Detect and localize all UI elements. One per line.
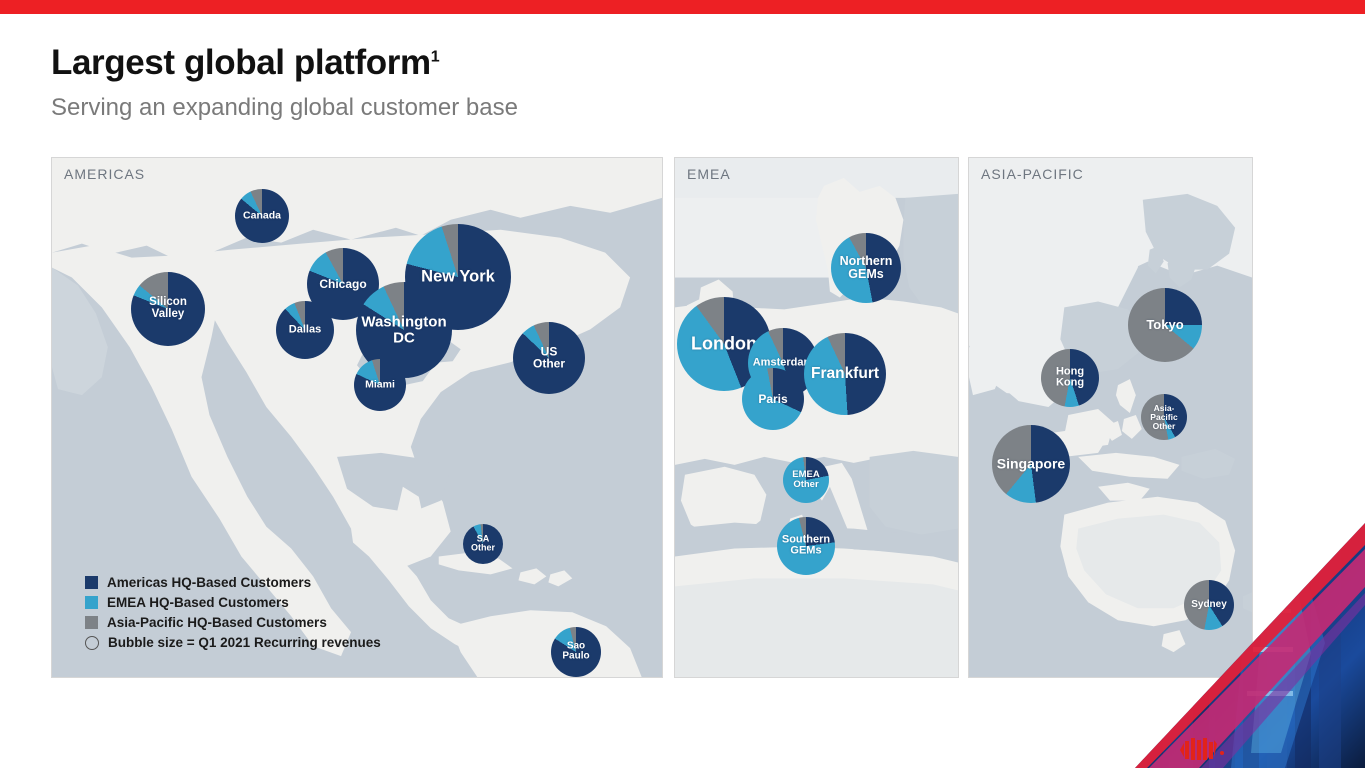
bubble-label: London bbox=[691, 335, 757, 354]
bubble-label: Tokyo bbox=[1146, 318, 1183, 332]
bubble-southern-gems[interactable]: SouthernGEMs bbox=[777, 517, 835, 575]
legend-label: Asia-Pacific HQ-Based Customers bbox=[107, 615, 327, 630]
legend-swatch-emea bbox=[85, 596, 98, 609]
bubble-hong-kong[interactable]: HongKong bbox=[1041, 349, 1099, 407]
bubble-label: EMEAOther bbox=[792, 470, 819, 490]
page-subtitle: Serving an expanding global customer bas… bbox=[51, 94, 518, 122]
bubble-frankfurt[interactable]: Frankfurt bbox=[804, 333, 886, 415]
bubble-label: SouthernGEMs bbox=[782, 535, 830, 558]
map-panel-emea: EMEA bbox=[674, 157, 959, 678]
bubble-label: Dallas bbox=[289, 324, 321, 335]
bubble-label: Canada bbox=[243, 211, 281, 222]
bubble-label: Chicago bbox=[319, 278, 366, 290]
page-title-text: Largest global platform bbox=[51, 43, 431, 82]
bubble-tokyo[interactable]: Tokyo bbox=[1128, 288, 1202, 362]
legend-swatch-apac bbox=[85, 616, 98, 629]
bubble-label: NorthernGEMs bbox=[840, 255, 893, 281]
bubble-label: Singapore bbox=[997, 457, 1065, 472]
top-accent-bar bbox=[0, 0, 1365, 14]
page-title: Largest global platform1 bbox=[51, 44, 439, 83]
bubble-miami[interactable]: Miami bbox=[354, 359, 406, 411]
legend-item: Americas HQ-Based Customers bbox=[85, 575, 381, 590]
bubble-label: Asia-PacificOther bbox=[1150, 404, 1177, 430]
bubble-label: Paris bbox=[758, 393, 787, 405]
legend-item: Bubble size = Q1 2021 Recurring revenues bbox=[85, 635, 381, 650]
bubble-label: USOther bbox=[533, 346, 565, 371]
emea-map-graphic bbox=[675, 158, 958, 677]
panel-label-apac: ASIA-PACIFIC bbox=[981, 166, 1084, 182]
bubble-label: Frankfurt bbox=[811, 366, 879, 382]
bubble-northern-gems[interactable]: NorthernGEMs bbox=[831, 233, 901, 303]
legend-label: EMEA HQ-Based Customers bbox=[107, 595, 289, 610]
legend-swatch-americas bbox=[85, 576, 98, 589]
bubble-singapore[interactable]: Singapore bbox=[992, 425, 1070, 503]
bubble-emea-other[interactable]: EMEAOther bbox=[783, 457, 829, 503]
panel-label-emea: EMEA bbox=[687, 166, 731, 182]
bubble-label: New York bbox=[421, 268, 495, 285]
bubble-label: SiliconValley bbox=[149, 297, 187, 321]
bubble-sao-paulo[interactable]: SaoPaulo bbox=[551, 627, 601, 677]
bubble-dallas[interactable]: Dallas bbox=[276, 301, 334, 359]
equinix-logo bbox=[1176, 738, 1228, 767]
legend-item: Asia-Pacific HQ-Based Customers bbox=[85, 615, 381, 630]
legend-swatch-bubble-size bbox=[85, 636, 99, 650]
slide-root: Largest global platform1 Serving an expa… bbox=[0, 0, 1365, 768]
bubble-label: SAOther bbox=[471, 535, 495, 554]
bubble-label: SaoPaulo bbox=[562, 642, 589, 663]
legend: Americas HQ-Based Customers EMEA HQ-Base… bbox=[85, 575, 381, 655]
bubble-asia-pacific-other[interactable]: Asia-PacificOther bbox=[1141, 394, 1187, 440]
bubble-label: Sydney bbox=[1191, 600, 1227, 610]
bubble-label: HongKong bbox=[1056, 367, 1084, 390]
legend-label: Bubble size = Q1 2021 Recurring revenues bbox=[108, 635, 381, 650]
bubble-label: Miami bbox=[365, 380, 395, 391]
panel-label-americas: AMERICAS bbox=[64, 166, 145, 182]
bubble-sa-other[interactable]: SAOther bbox=[463, 524, 503, 564]
map-panel-americas: Americas HQ-Based Customers EMEA HQ-Base… bbox=[51, 157, 663, 678]
bubble-paris[interactable]: Paris bbox=[742, 368, 804, 430]
page-title-superscript: 1 bbox=[431, 48, 440, 65]
bubble-silicon-valley[interactable]: SiliconValley bbox=[131, 272, 205, 346]
bubble-sydney[interactable]: Sydney bbox=[1184, 580, 1234, 630]
legend-item: EMEA HQ-Based Customers bbox=[85, 595, 381, 610]
legend-label: Americas HQ-Based Customers bbox=[107, 575, 311, 590]
bubble-canada[interactable]: Canada bbox=[235, 189, 289, 243]
bubble-us-other[interactable]: USOther bbox=[513, 322, 585, 394]
bubble-label: WashingtonDC bbox=[361, 314, 446, 345]
